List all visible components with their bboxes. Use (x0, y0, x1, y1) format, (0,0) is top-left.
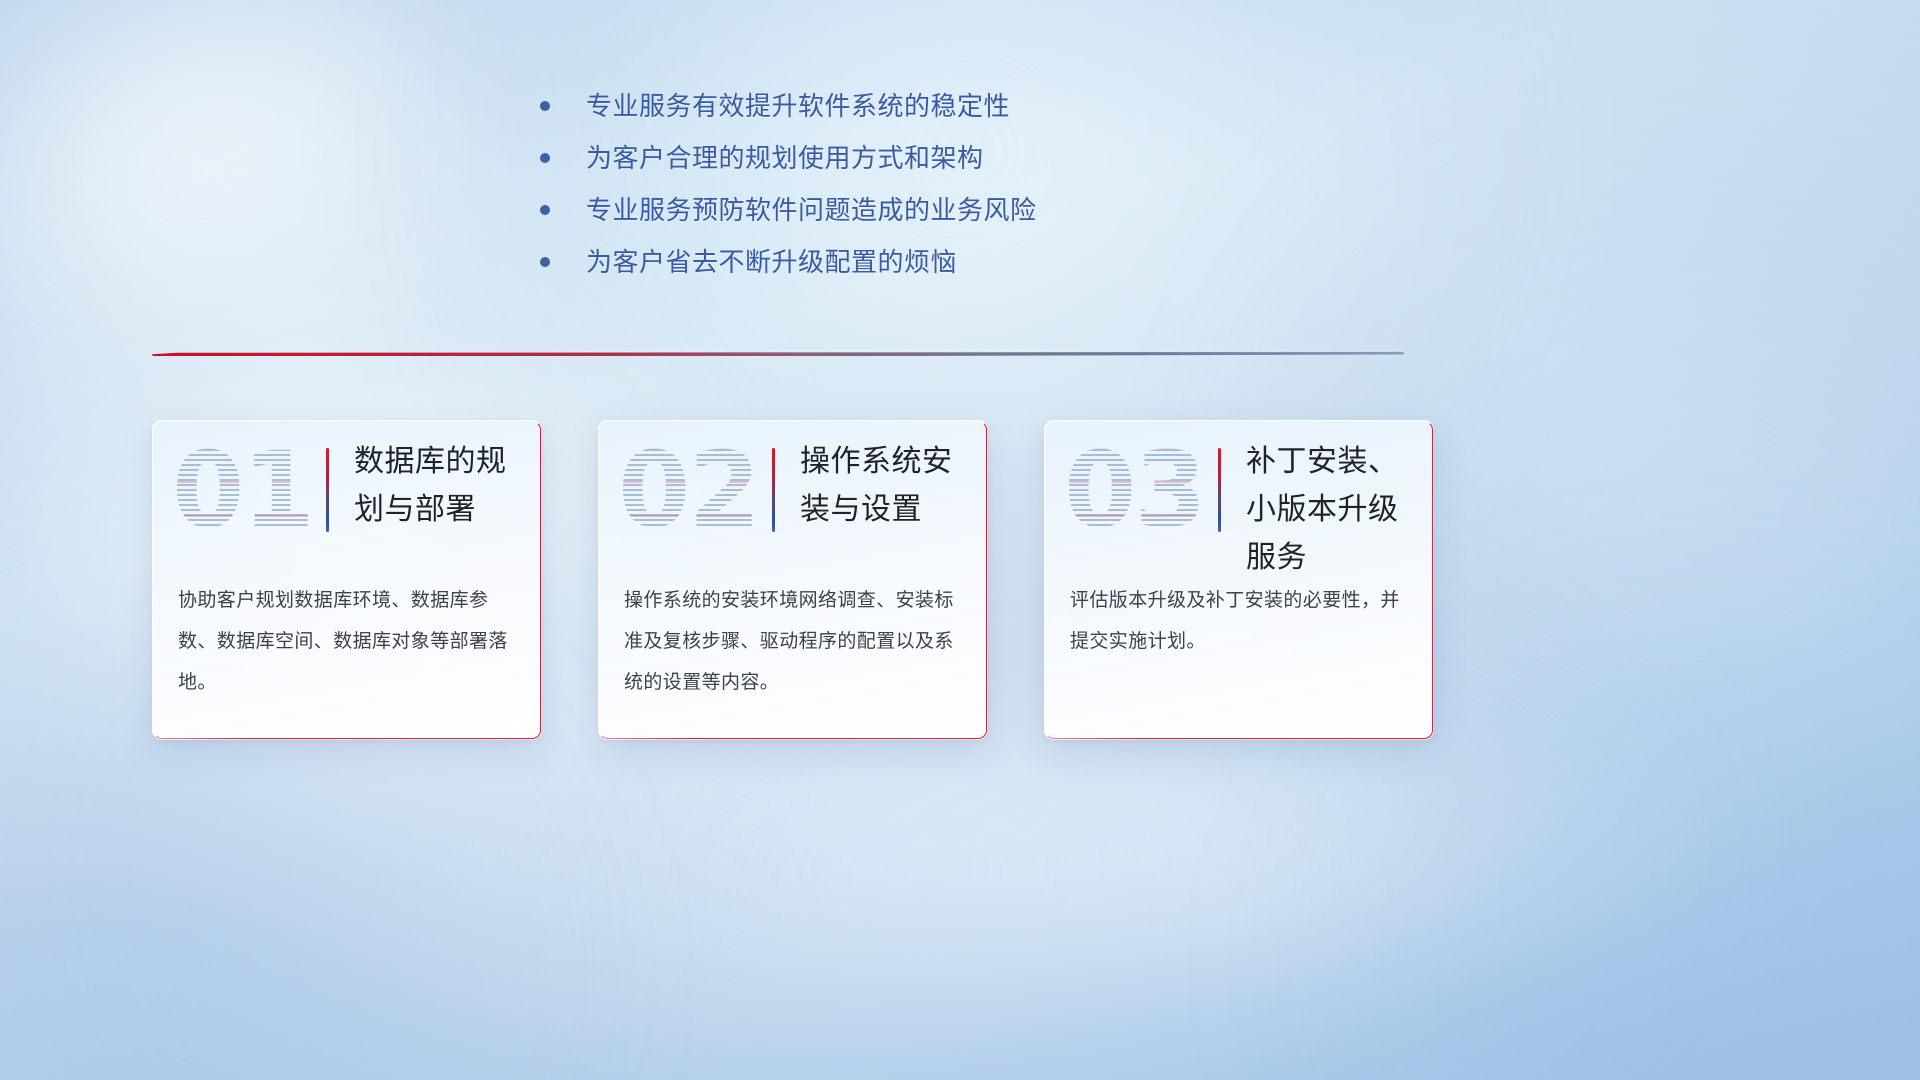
bullet-dot-icon (540, 205, 550, 215)
bullet-dot-icon (540, 101, 550, 111)
bullet-dot-icon (540, 153, 550, 163)
benefits-bullet-list: 专业服务有效提升软件系统的稳定性 为客户合理的规划使用方式和架构 专业服务预防软… (540, 86, 1380, 294)
service-card[interactable]: 01 01 数据库的规划与部署 协助客户规划数据库环境、数据库参数、数据库空间、… (152, 420, 542, 740)
bullet-text: 专业服务有效提升软件系统的稳定性 (586, 86, 1010, 126)
service-card[interactable]: 02 02 操作系统安装与设置 操作系统的安装环境网络调查、安装标准及复核步骤、… (598, 420, 988, 740)
card-header: 02 02 操作系统安装与设置 (598, 420, 988, 568)
card-header: 01 01 数据库的规划与部署 (152, 420, 542, 568)
list-item: 为客户省去不断升级配置的烦恼 (540, 242, 1380, 294)
card-number-watermark-tint: 01 (172, 434, 312, 546)
card-title: 操作系统安装与设置 (800, 438, 978, 534)
bullet-text: 为客户省去不断升级配置的烦恼 (586, 242, 957, 282)
bullet-text: 为客户合理的规划使用方式和架构 (586, 138, 984, 178)
list-item: 专业服务有效提升软件系统的稳定性 (540, 86, 1380, 138)
divider-highlight (152, 349, 1404, 352)
card-number-watermark-tint: 02 (618, 434, 758, 546)
list-item: 为客户合理的规划使用方式和架构 (540, 138, 1380, 190)
card-header: 03 03 补丁安装、小版本升级服务 (1044, 420, 1434, 568)
card-body-text: 操作系统的安装环境网络调查、安装标准及复核步骤、驱动程序的配置以及系统的设置等内… (624, 580, 964, 703)
card-number-watermark-tint: 03 (1064, 434, 1204, 546)
card-title: 补丁安装、小版本升级服务 (1246, 438, 1424, 582)
bullet-text: 专业服务预防软件问题造成的业务风险 (586, 190, 1037, 230)
card-title: 数据库的规划与部署 (354, 438, 532, 534)
service-card[interactable]: 03 03 补丁安装、小版本升级服务 评估版本升级及补丁安装的必要性，并提交实施… (1044, 420, 1434, 740)
divider-bar (152, 352, 1404, 356)
bullet-dot-icon (540, 257, 550, 267)
card-body-text: 协助客户规划数据库环境、数据库参数、数据库空间、数据库对象等部署落地。 (178, 580, 518, 703)
card-body-text: 评估版本升级及补丁安装的必要性，并提交实施计划。 (1070, 580, 1410, 662)
section-divider (152, 344, 1404, 364)
card-title-rule (772, 448, 775, 532)
list-item: 专业服务预防软件问题造成的业务风险 (540, 190, 1380, 242)
card-title-rule (1218, 448, 1221, 532)
card-title-rule (326, 448, 329, 532)
